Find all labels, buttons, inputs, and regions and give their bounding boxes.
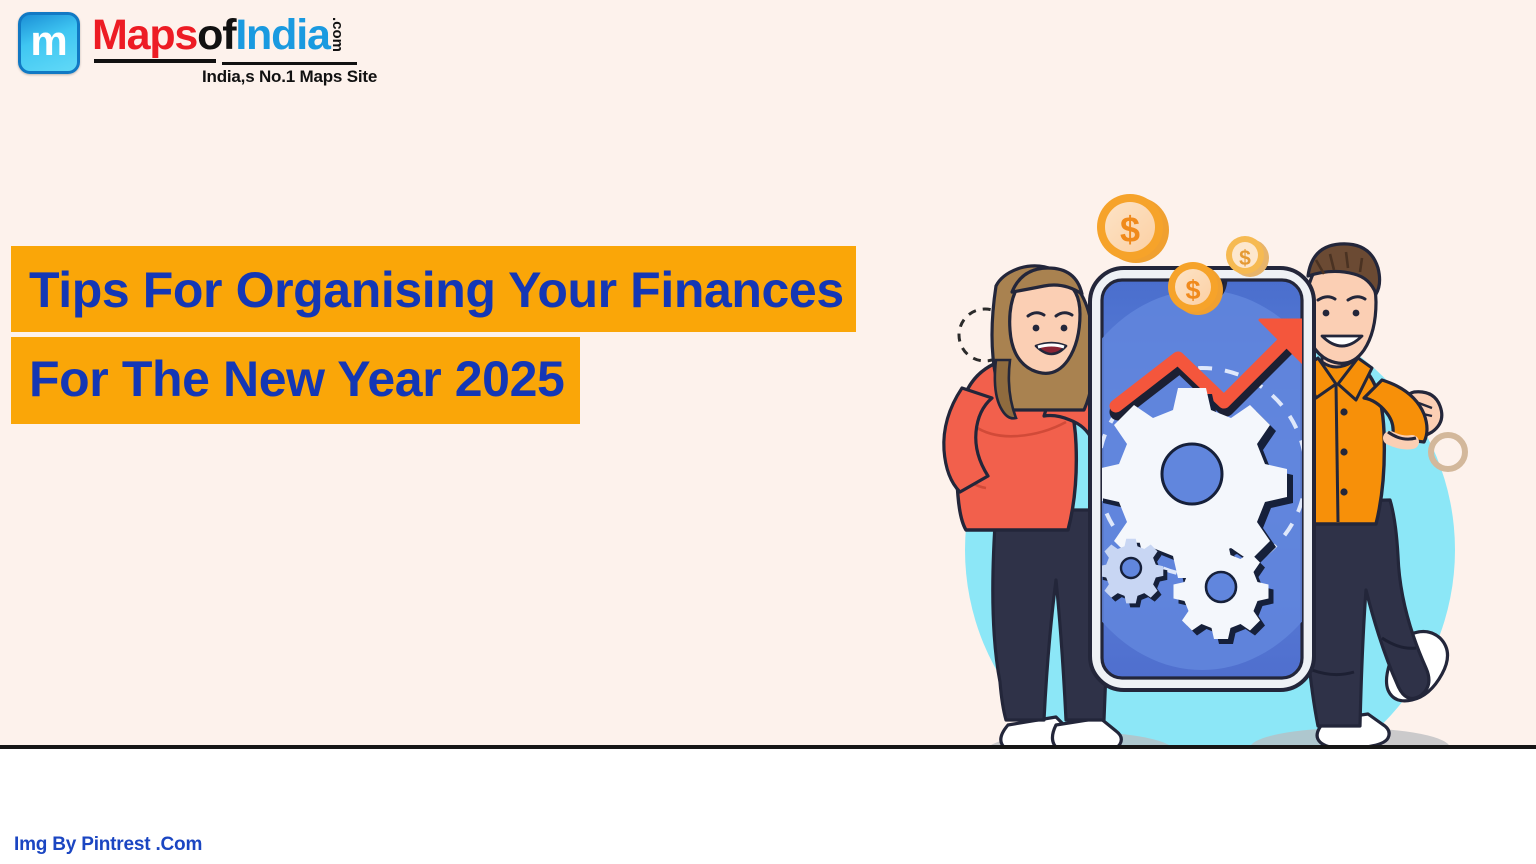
smartphone: [1052, 268, 1352, 690]
page-root: m MapsofIndia .com India,s No.1 Maps Sit…: [0, 0, 1536, 864]
wordmark-tld: .com: [330, 17, 345, 52]
image-credit-caption: Img By Pintrest .Com: [14, 834, 202, 856]
logo-wordmark: MapsofIndia .com: [92, 14, 330, 57]
page-title-line-2: For The New Year 2025: [11, 337, 580, 424]
hero-banner: m MapsofIndia .com India,s No.1 Maps Sit…: [0, 0, 1536, 749]
logo-mark-letter: m: [30, 20, 67, 62]
logo-underline-left: [94, 59, 216, 63]
wordmark-india: India: [235, 11, 329, 59]
logo-wordmark-group: MapsofIndia .com India,s No.1 Maps Site: [92, 12, 330, 57]
svg-text:$: $: [1120, 209, 1140, 250]
mapsofindia-logo[interactable]: m MapsofIndia .com India,s No.1 Maps Sit…: [18, 12, 330, 74]
coin-large: $: [1097, 194, 1169, 263]
wordmark-maps: Maps: [92, 11, 197, 59]
logo-underline-right: [222, 62, 357, 65]
finance-teamwork-illustration: $ $ $: [930, 180, 1490, 749]
page-title-line-1: Tips For Organising Your Finances: [11, 246, 856, 332]
svg-text:$: $: [1239, 247, 1251, 270]
wordmark-of: of: [197, 11, 235, 59]
svg-text:$: $: [1185, 275, 1200, 305]
logo-tagline: India,s No.1 Maps Site: [202, 67, 377, 87]
page-title: Tips For Organising Your Finances For Th…: [11, 246, 856, 424]
logo-mark-icon: m: [18, 12, 80, 74]
